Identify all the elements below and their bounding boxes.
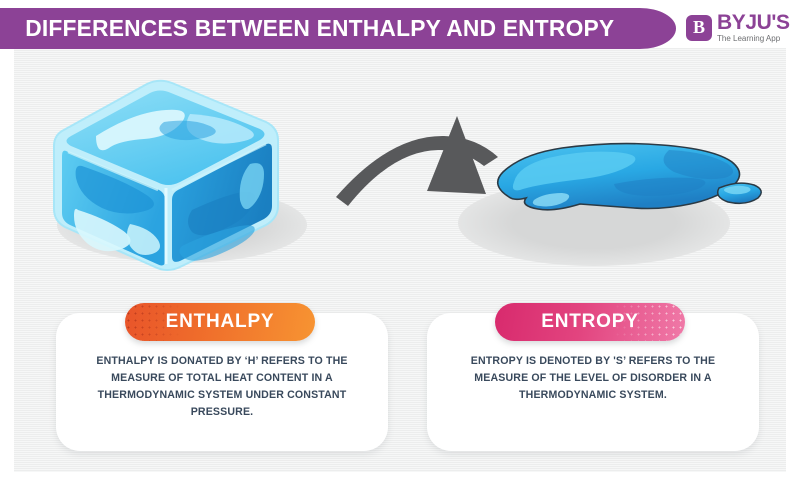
logo-wordmark: BYJU'S <box>717 12 790 33</box>
curved-arrow-icon <box>336 116 498 206</box>
enthalpy-description: ENTHALPY IS DONATED BY ‘H’ REFERS TO THE… <box>74 353 370 422</box>
entropy-description: ENTROPY IS DENOTED BY 'S’ REFERS TO THE … <box>445 353 741 404</box>
infographic-page: DIFFERENCES BETWEEN ENTHALPY AND ENTROPY… <box>0 0 800 483</box>
logo-text-block: BYJU'S The Learning App <box>717 12 790 43</box>
illustration-area <box>14 60 786 290</box>
page-title: DIFFERENCES BETWEEN ENTHALPY AND ENTROPY <box>0 15 614 42</box>
byjus-logo-icon: B <box>686 15 712 41</box>
byjus-logo[interactable]: B BYJU'S The Learning App <box>686 12 790 43</box>
header-banner: DIFFERENCES BETWEEN ENTHALPY AND ENTROPY <box>0 8 676 49</box>
water-puddle-graphic <box>498 144 761 210</box>
entropy-pill-label: ENTROPY <box>541 311 638 333</box>
illustration-svg <box>14 60 786 290</box>
entropy-pill: ENTROPY <box>495 303 685 341</box>
logo-tagline: The Learning App <box>717 35 790 43</box>
enthalpy-pill-label: ENTHALPY <box>166 311 275 333</box>
logo-letter: B <box>686 15 712 41</box>
enthalpy-pill: ENTHALPY <box>125 303 315 341</box>
